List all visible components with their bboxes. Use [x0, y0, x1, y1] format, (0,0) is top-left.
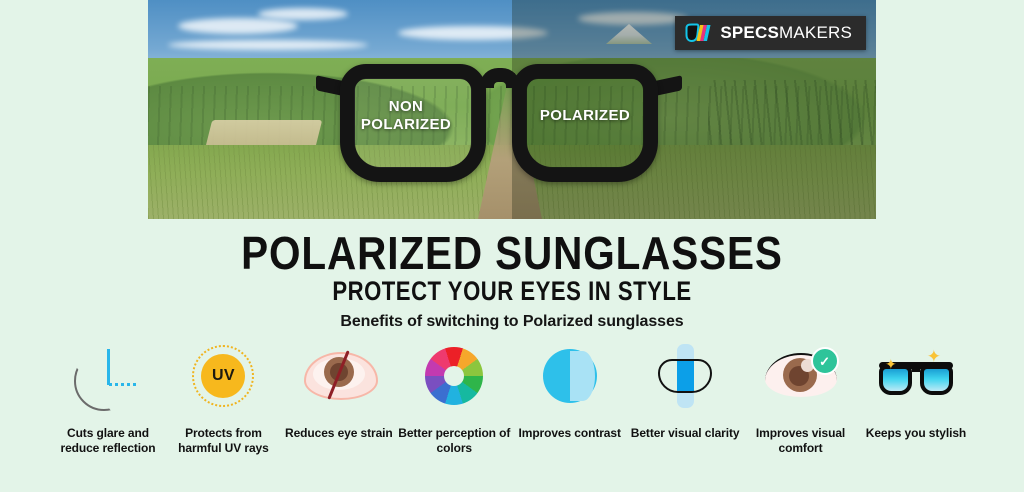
benefit-label: Reduces eye strain [285, 426, 393, 441]
benefit-item-clarity: Better visual clarity [629, 340, 741, 441]
brand-logo[interactable]: SPECSMAKERS [675, 16, 866, 50]
benefit-item-colors: Better perception of colors [398, 340, 510, 456]
lens-clarity-icon [653, 340, 717, 412]
benefit-item-glare: Cuts glare and reduce reflection [52, 340, 164, 456]
benefit-label: Cuts glare and reduce reflection [52, 426, 164, 456]
sparkle-icon: ✦ [885, 357, 897, 371]
eye-check-comfort-icon: ✓ [765, 340, 837, 412]
color-wheel-icon [425, 340, 483, 412]
benefit-label: Better visual clarity [631, 426, 740, 441]
page-subtitle: PROTECT YOUR EYES IN STYLE [92, 276, 932, 307]
hero-comparison-image: NON POLARIZED POLARIZED SPECSMAKERS [148, 0, 876, 219]
benefit-label: Improves visual comfort [745, 426, 857, 456]
sparkle-icon: ✦ [927, 348, 941, 365]
nose-bridge [480, 68, 520, 88]
glare-dotted-line [109, 383, 139, 386]
brand-logo-text: SPECSMAKERS [720, 23, 852, 43]
page-title: POLARIZED SUNGLASSES [61, 226, 962, 280]
lens-label-polarized: POLARIZED [520, 107, 650, 125]
contrast-circle-icon [543, 340, 597, 412]
benefit-item-eye-strain: Reduces eye strain [283, 340, 395, 441]
glare-vertical-line [107, 349, 110, 385]
benefit-label: Improves contrast [519, 426, 621, 441]
benefit-item-contrast: Improves contrast [514, 340, 626, 441]
infographic-page: NON POLARIZED POLARIZED SPECSMAKERS POLA… [0, 0, 1024, 492]
check-badge-icon: ✓ [811, 347, 839, 375]
brand-name-light: MAKERS [779, 23, 852, 43]
cloud [258, 8, 348, 20]
glare-arc [74, 351, 134, 411]
uv-shield-icon: UV [192, 340, 254, 412]
benefit-item-uv: UV Protects from harmful UV rays [167, 340, 279, 456]
sunglasses-sparkle-icon: ✦ ✦ [879, 340, 953, 412]
benefits-row: Cuts glare and reduce reflection UV Prot… [52, 340, 972, 456]
benefit-item-comfort: ✓ Improves visual comfort [745, 340, 857, 456]
benefit-item-stylish: ✦ ✦ Keeps you stylish [860, 340, 972, 441]
lens-label-non-polarized: NON POLARIZED [346, 98, 466, 134]
benefit-label: Keeps you stylish [866, 426, 966, 441]
sunglasses-lens-right [920, 365, 953, 395]
clarity-lens-outline [658, 359, 712, 393]
specs-lens-logo-mark [685, 23, 711, 43]
glare-reflection-icon [76, 340, 140, 412]
benefit-label: Protects from harmful UV rays [167, 426, 279, 456]
cloud [178, 18, 298, 34]
uv-dotted-ring [192, 345, 254, 407]
benefit-label: Better perception of colors [398, 426, 510, 456]
page-tagline: Benefits of switching to Polarized sungl… [0, 313, 1024, 331]
eye-strain-blocked-icon [304, 340, 374, 412]
sunglasses-nose-bridge [912, 366, 920, 372]
contrast-light-half [570, 351, 595, 401]
brand-name-bold: SPECS [720, 23, 779, 43]
